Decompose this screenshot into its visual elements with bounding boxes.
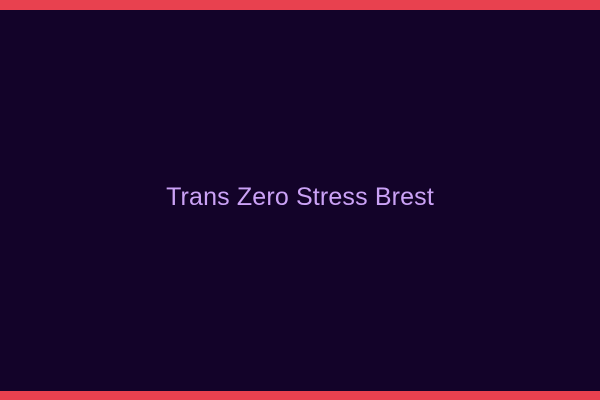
placeholder-label: Trans Zero Stress Brest — [0, 185, 600, 210]
top-accent-bar — [0, 0, 600, 10]
placeholder-card: Trans Zero Stress Brest — [0, 0, 600, 400]
placeholder-body: Trans Zero Stress Brest — [0, 10, 600, 391]
bottom-accent-bar — [0, 391, 600, 400]
